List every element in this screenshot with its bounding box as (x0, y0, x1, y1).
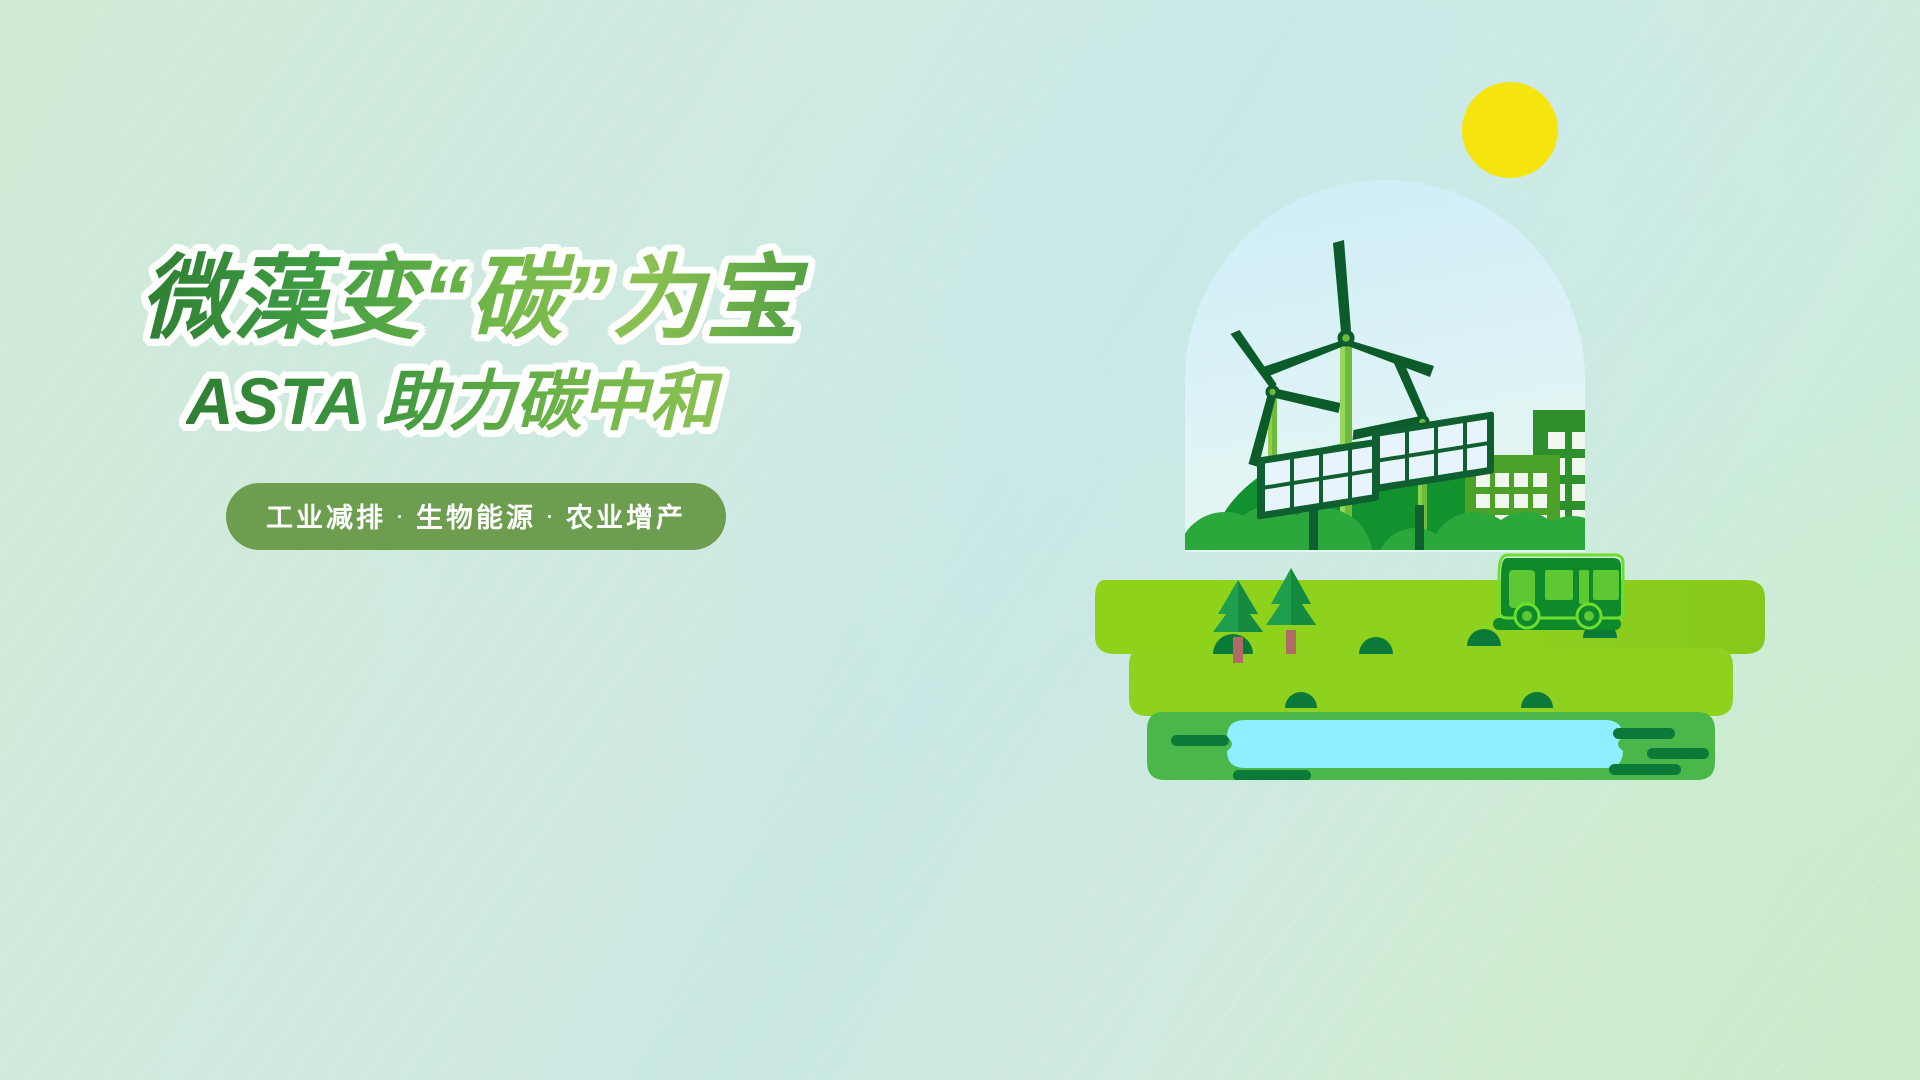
page-subtitle: ASTA 助力碳中和 (186, 363, 900, 441)
sun-icon (1462, 82, 1558, 178)
tagline-pill: 工业减排 · 生物能源 · 农业增产 (226, 483, 726, 550)
page-title: 微藻变“碳”为宝 (140, 250, 900, 349)
tagline-separator-1: · (386, 500, 416, 531)
eco-city-illustration (1085, 80, 1785, 780)
tagline-item-1: 工业减排 (266, 496, 386, 535)
tagline-item-2: 生物能源 (416, 496, 536, 535)
tagline-item-3: 农业增产 (566, 496, 686, 535)
tagline-separator-2: · (536, 500, 566, 531)
bus-icon (1493, 555, 1623, 630)
eco-banner: 微藻变“碳”为宝 ASTA 助力碳中和 工业减排 · 生物能源 · 农业增产 (0, 0, 1920, 1080)
lake (1227, 720, 1623, 768)
headline-block: 微藻变“碳”为宝 ASTA 助力碳中和 工业减排 · 生物能源 · 农业增产 (140, 250, 900, 550)
